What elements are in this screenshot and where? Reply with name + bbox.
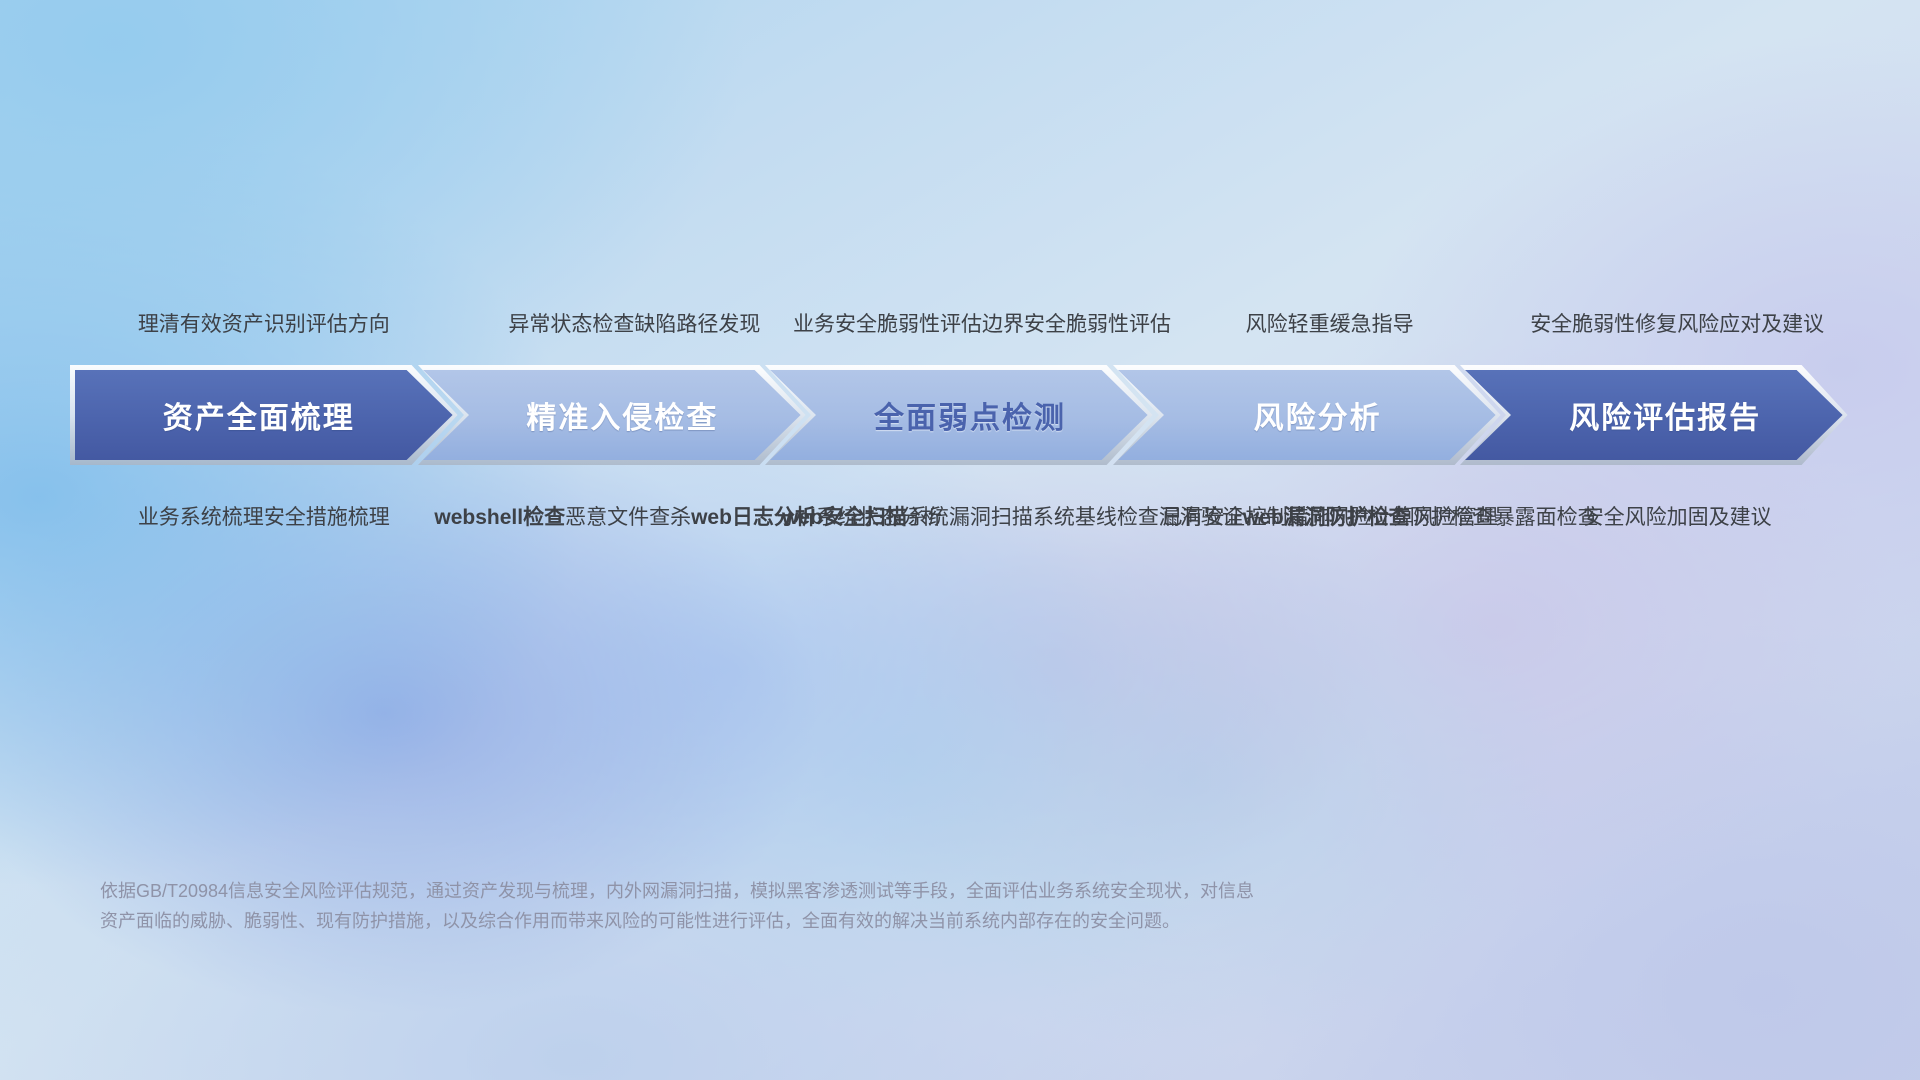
top-label-row: 理清有效资产识别评估方向异常状态检查缺陷路径发现业务安全脆弱性评估边界安全脆弱性… <box>70 185 1854 345</box>
stage-chevron-2[interactable]: 精准入侵检查 <box>418 365 812 465</box>
footer-line-2: 资产面临的威胁、脆弱性、现有防护措施，以及综合作用而带来风险的可能性进行评估，全… <box>100 906 1620 936</box>
top-label-item: 异常状态检查 <box>508 313 634 336</box>
stage-label: 资产全面梳理 <box>163 393 355 437</box>
top-label-item: 风险轻重缓急指导 <box>1246 313 1414 336</box>
bottom-label-item: 已有安全控制措施 <box>1162 506 1330 529</box>
top-label-item: 业务安全脆弱性评估 <box>793 313 982 336</box>
top-label-item: 缺陷路径发现 <box>634 313 760 336</box>
top-label-item: 安全脆弱性修复 <box>1530 313 1677 336</box>
stage-top-labels-4: 风险轻重缓急指导 <box>1130 305 1530 345</box>
footer-line-1: 依据GB/T20984信息安全风险评估规范，通过资产发现与梳理，内外网漏洞扫描，… <box>100 876 1620 906</box>
stage-label: 风险评估报告 <box>1569 393 1761 437</box>
bottom-label-item: web安全扫描 <box>782 506 907 529</box>
bottom-label-item: 安全措施梳理 <box>264 506 390 529</box>
bottom-label-item: webshell检查 <box>434 506 565 529</box>
process-stage-banner: 资产全面梳理精准入侵检查全面弱点检测风险分析风险评估报告 <box>70 365 1854 465</box>
stage-bottom-labels-3: web安全扫描系统漏洞扫描系统基线检查漏洞验证web漏洞防护检查防护检查暴露面检… <box>782 498 1182 538</box>
stage-top-labels-1: 理清有效资产识别评估方向 <box>64 305 464 345</box>
stage-label: 全面弱点检测 <box>874 393 1066 437</box>
bottom-label-item: 恶意文件查杀 <box>565 506 691 529</box>
stage-bottom-labels-2: webshell检查恶意文件查杀web日志分析系统状态分析 <box>434 498 834 538</box>
stage-chevron-1[interactable]: 资产全面梳理 <box>70 365 464 465</box>
stage-top-labels-3: 业务安全脆弱性评估边界安全脆弱性评估 <box>782 305 1182 345</box>
bottom-label-item: 系统漏洞扫描 <box>907 506 1033 529</box>
stage-label: 精准入侵检查 <box>526 393 718 437</box>
top-label-item: 风险应对及建议 <box>1677 313 1824 336</box>
bottom-label-item: 风险计算 <box>1330 506 1414 529</box>
bottom-label-item: 业务系统梳理 <box>138 506 264 529</box>
bottom-label-item: 安全风险加固及建议 <box>1583 506 1772 529</box>
stage-bottom-labels-5: 安全风险加固及建议 <box>1477 498 1877 538</box>
stage-label: 风险分析 <box>1254 393 1382 437</box>
top-label-item: 理清有效资产 <box>138 313 264 336</box>
stage-top-labels-5: 安全脆弱性修复风险应对及建议 <box>1477 305 1877 345</box>
stage-top-labels-2: 异常状态检查缺陷路径发现 <box>434 305 834 345</box>
stage-bottom-labels-1: 业务系统梳理安全措施梳理 <box>64 498 464 538</box>
stage-bottom-labels-4: 已有安全控制措施风险计算风险管理 <box>1130 498 1530 538</box>
stage-chevron-3[interactable]: 全面弱点检测 <box>765 365 1159 465</box>
stage-chevron-4[interactable]: 风险分析 <box>1113 365 1507 465</box>
stage-chevron-5[interactable]: 风险评估报告 <box>1460 365 1854 465</box>
footer-description: 依据GB/T20984信息安全风险评估规范，通过资产发现与梳理，内外网漏洞扫描，… <box>100 876 1620 936</box>
top-label-item: 识别评估方向 <box>264 313 390 336</box>
